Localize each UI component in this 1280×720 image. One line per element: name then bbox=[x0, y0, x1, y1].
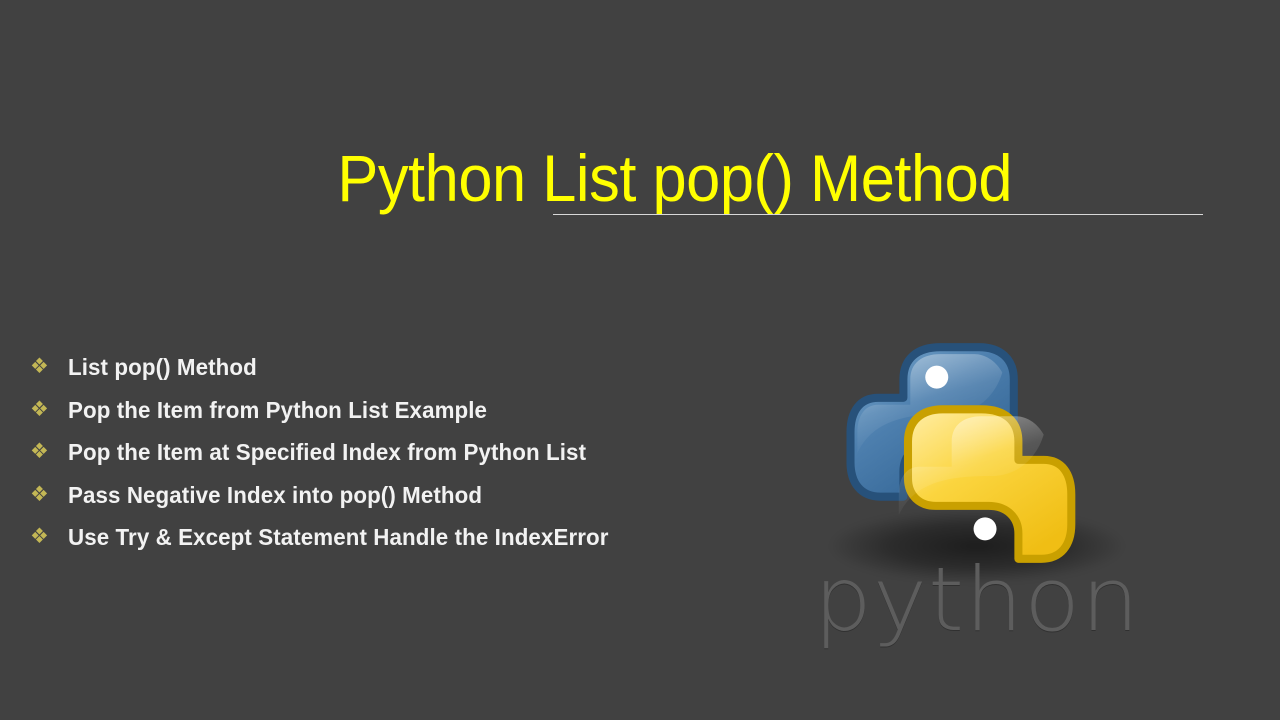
list-item: ❖ Pop the Item from Python List Example bbox=[30, 395, 790, 438]
yellow-snake-eye bbox=[974, 517, 997, 540]
python-yellow-snake bbox=[899, 409, 1072, 559]
list-item: ❖ Use Try & Except Statement Handle the … bbox=[30, 522, 790, 565]
bullet-list: ❖ List pop() Method ❖ Pop the Item from … bbox=[30, 352, 790, 565]
diamond-bullet-icon: ❖ bbox=[30, 522, 68, 552]
diamond-bullet-icon: ❖ bbox=[30, 437, 68, 467]
slide-canvas: Python List pop() Method ❖ List pop() Me… bbox=[0, 0, 1280, 720]
blue-snake-eye bbox=[925, 366, 948, 389]
list-item: ❖ Pop the Item at Specified Index from P… bbox=[30, 437, 790, 480]
python-logo: python bbox=[812, 338, 1142, 658]
list-item-label: Pop the Item at Specified Index from Pyt… bbox=[68, 437, 754, 467]
list-item: ❖ Pass Negative Index into pop() Method bbox=[30, 480, 790, 523]
python-wordmark: python bbox=[805, 550, 1148, 650]
diamond-bullet-icon: ❖ bbox=[30, 480, 68, 510]
list-item: ❖ List pop() Method bbox=[30, 352, 790, 395]
title-block: Python List pop() Method bbox=[0, 138, 1280, 228]
python-snakes-icon bbox=[842, 338, 1112, 568]
list-item-label: Use Try & Except Statement Handle the In… bbox=[68, 522, 754, 552]
list-item-label: List pop() Method bbox=[68, 352, 754, 382]
list-item-label: Pop the Item from Python List Example bbox=[68, 395, 754, 425]
title-underline-rule bbox=[553, 214, 1203, 215]
diamond-bullet-icon: ❖ bbox=[30, 395, 68, 425]
list-item-label: Pass Negative Index into pop() Method bbox=[68, 480, 754, 510]
diamond-bullet-icon: ❖ bbox=[30, 352, 68, 382]
page-title: Python List pop() Method bbox=[71, 138, 1012, 218]
